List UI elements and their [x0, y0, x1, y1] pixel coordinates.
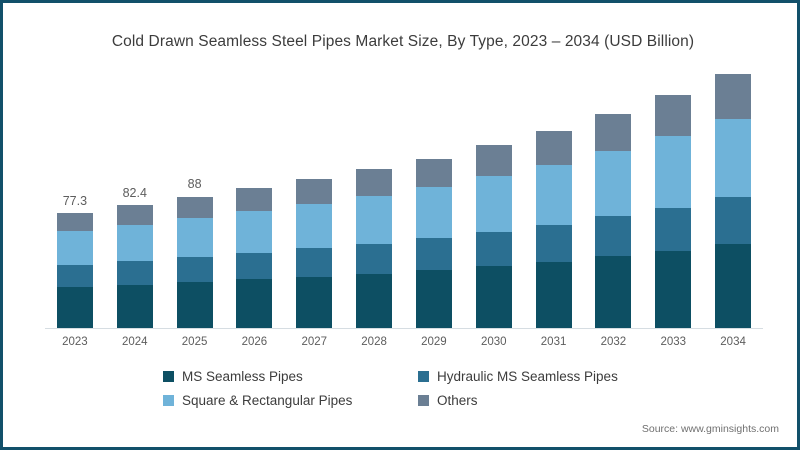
- stacked-bar[interactable]: [655, 95, 691, 329]
- stacked-bar[interactable]: [117, 205, 153, 329]
- bar-segment[interactable]: [236, 279, 272, 329]
- bar-segment[interactable]: [655, 251, 691, 329]
- legend-swatch-icon: [163, 371, 174, 382]
- x-axis-tick-2030: 2030: [464, 336, 524, 348]
- stacked-bar[interactable]: [715, 74, 751, 329]
- legend-item-others[interactable]: Others: [418, 393, 478, 408]
- legend-swatch-icon: [418, 395, 429, 406]
- bar-segment[interactable]: [57, 287, 93, 329]
- x-axis-tick-labels: 2023202420252026202720282029203020312032…: [45, 336, 763, 356]
- chart-container: Cold Drawn Seamless Steel Pipes Market S…: [0, 0, 800, 450]
- legend-item-label: Square & Rectangular Pipes: [182, 393, 352, 408]
- legend-item-label: Others: [437, 393, 478, 408]
- bar-segment[interactable]: [356, 196, 392, 244]
- legend-item-label: Hydraulic MS Seamless Pipes: [437, 369, 618, 384]
- bar-group[interactable]: 82.4: [117, 73, 153, 329]
- bar-segment[interactable]: [536, 225, 572, 262]
- legend-item-hydraulic-ms-seamless-pipes[interactable]: Hydraulic MS Seamless Pipes: [418, 369, 618, 384]
- bar-segment[interactable]: [57, 213, 93, 231]
- bar-segment[interactable]: [117, 205, 153, 225]
- x-axis-tick-2033: 2033: [643, 336, 703, 348]
- bar-group[interactable]: [416, 73, 452, 329]
- legend-item-label: MS Seamless Pipes: [182, 369, 303, 384]
- bar-segment[interactable]: [655, 136, 691, 207]
- bar-segment[interactable]: [236, 188, 272, 211]
- bar-segment[interactable]: [57, 265, 93, 287]
- bar-segment[interactable]: [177, 197, 213, 219]
- bar-segment[interactable]: [296, 248, 332, 276]
- bar-segment[interactable]: [536, 262, 572, 329]
- bar-segment[interactable]: [476, 176, 512, 231]
- x-axis-tick-2023: 2023: [45, 336, 105, 348]
- bar-segment[interactable]: [715, 119, 751, 197]
- x-axis-tick-2034: 2034: [703, 336, 763, 348]
- stacked-bar[interactable]: [356, 169, 392, 329]
- source-attribution: Source: www.gminsights.com: [642, 423, 779, 435]
- bar-segment[interactable]: [177, 218, 213, 257]
- x-axis-line: [45, 328, 763, 329]
- bar-segment[interactable]: [476, 266, 512, 329]
- bar-segment[interactable]: [595, 151, 631, 217]
- x-axis-tick-2031: 2031: [524, 336, 584, 348]
- bar-segment[interactable]: [177, 257, 213, 282]
- bar-group[interactable]: [655, 73, 691, 329]
- legend-swatch-icon: [163, 395, 174, 406]
- bar-group[interactable]: [536, 73, 572, 329]
- stacked-bar[interactable]: [296, 179, 332, 329]
- bar-segment[interactable]: [416, 270, 452, 329]
- x-axis-tick-2026: 2026: [224, 336, 284, 348]
- x-axis-tick-2024: 2024: [105, 336, 165, 348]
- bar-segment[interactable]: [655, 208, 691, 251]
- bar-group[interactable]: [356, 73, 392, 329]
- bar-segment[interactable]: [57, 231, 93, 265]
- bar-segment[interactable]: [416, 187, 452, 238]
- bar-value-label: 82.4: [105, 186, 165, 200]
- bar-group[interactable]: [715, 73, 751, 329]
- bar-segment[interactable]: [356, 169, 392, 196]
- bar-segment[interactable]: [117, 225, 153, 261]
- bar-group[interactable]: [296, 73, 332, 329]
- x-axis-tick-2025: 2025: [165, 336, 225, 348]
- bar-segment[interactable]: [536, 165, 572, 225]
- bar-group[interactable]: 88: [177, 73, 213, 329]
- bar-segment[interactable]: [595, 256, 631, 329]
- legend-row-2: Square & Rectangular Pipes Others: [163, 393, 683, 408]
- stacked-bar[interactable]: [536, 131, 572, 329]
- x-axis-tick-2028: 2028: [344, 336, 404, 348]
- bar-value-label: 88: [165, 177, 225, 191]
- bar-segment[interactable]: [416, 159, 452, 188]
- bar-segment[interactable]: [595, 114, 631, 151]
- bar-segment[interactable]: [296, 204, 332, 248]
- legend-item-square-rectangular-pipes[interactable]: Square & Rectangular Pipes: [163, 393, 418, 408]
- x-axis-tick-2032: 2032: [583, 336, 643, 348]
- bar-segment[interactable]: [655, 95, 691, 136]
- bar-segment[interactable]: [356, 244, 392, 274]
- stacked-bar[interactable]: [57, 213, 93, 329]
- stacked-bar[interactable]: [177, 196, 213, 329]
- stacked-bar[interactable]: [476, 145, 512, 329]
- bar-segment[interactable]: [356, 274, 392, 329]
- bar-group[interactable]: [476, 73, 512, 329]
- bar-segment[interactable]: [595, 216, 631, 256]
- bar-group[interactable]: [236, 73, 272, 329]
- bar-segment[interactable]: [296, 277, 332, 329]
- stacked-bar[interactable]: [416, 159, 452, 329]
- bar-segment[interactable]: [715, 197, 751, 244]
- bar-segment[interactable]: [416, 238, 452, 270]
- page-title: Cold Drawn Seamless Steel Pipes Market S…: [3, 33, 800, 51]
- stacked-bar[interactable]: [236, 188, 272, 329]
- bar-segment[interactable]: [117, 261, 153, 284]
- plot-area: 77.382.488: [45, 73, 763, 329]
- bar-segment[interactable]: [715, 74, 751, 119]
- legend-swatch-icon: [418, 371, 429, 382]
- bar-segment[interactable]: [236, 253, 272, 280]
- bar-segment[interactable]: [236, 211, 272, 253]
- x-axis-tick-2027: 2027: [284, 336, 344, 348]
- bar-group[interactable]: 77.3: [57, 73, 93, 329]
- bar-segment[interactable]: [476, 232, 512, 266]
- stacked-bar[interactable]: [595, 114, 631, 329]
- bar-segment[interactable]: [536, 131, 572, 165]
- chart-legend: MS Seamless Pipes Hydraulic MS Seamless …: [163, 369, 683, 417]
- bar-segment[interactable]: [117, 285, 153, 329]
- legend-item-ms-seamless-pipes[interactable]: MS Seamless Pipes: [163, 369, 418, 384]
- bar-segment[interactable]: [476, 145, 512, 176]
- bar-segment[interactable]: [177, 282, 213, 329]
- bar-segment[interactable]: [296, 179, 332, 204]
- bar-segment[interactable]: [715, 244, 751, 329]
- bar-group[interactable]: [595, 73, 631, 329]
- legend-row-1: MS Seamless Pipes Hydraulic MS Seamless …: [163, 369, 683, 384]
- bar-value-label: 77.3: [45, 194, 105, 208]
- x-axis-tick-2029: 2029: [404, 336, 464, 348]
